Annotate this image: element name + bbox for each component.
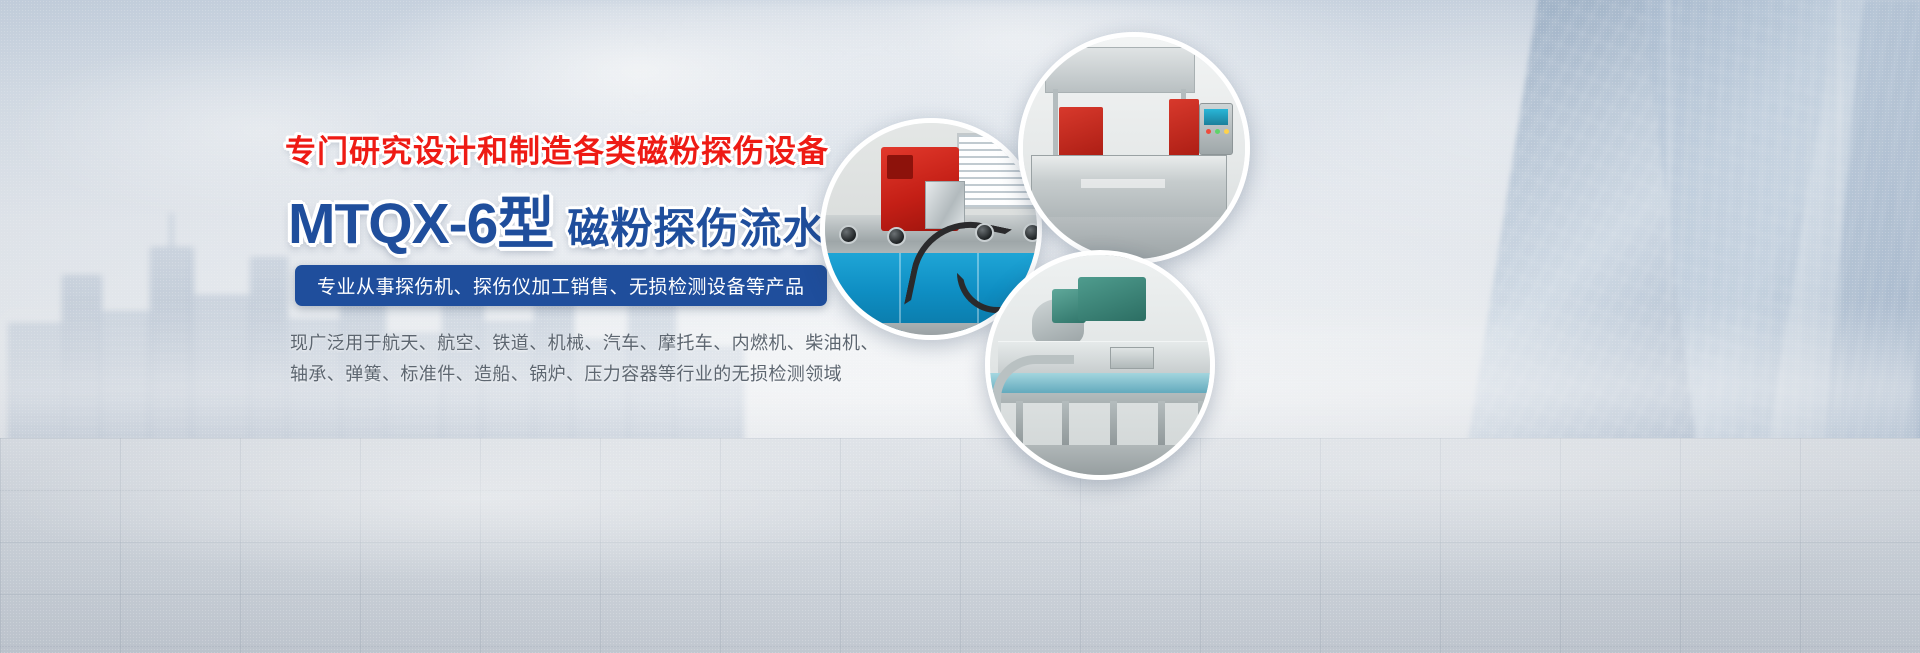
banner-tagline-red: 专门研究设计和制造各类磁粉探伤设备: [285, 126, 829, 171]
banner-description-line-2: 轴承、弹簧、标准件、造船、锅炉、压力容器等行业的无损检测领域: [290, 359, 879, 390]
promo-banner: 专门研究设计和制造各类磁粉探伤设备 MTQX-6型 磁粉探伤流水线 专业从事探伤…: [0, 0, 1920, 653]
photo-conveyor-line-image: [990, 255, 1210, 475]
photo-circle-conveyor-line[interactable]: [985, 250, 1215, 480]
photo-inspection-tank-image: [1023, 37, 1245, 259]
photo-circle-inspection-tank[interactable]: [1018, 32, 1250, 264]
banner-description: 现广泛用于航天、航空、铁道、机械、汽车、摩托车、内燃机、柴油机、 轴承、弹簧、标…: [290, 328, 879, 390]
banner-headline: MTQX-6型 磁粉探伤流水线: [288, 178, 868, 260]
banner-description-line-1: 现广泛用于航天、航空、铁道、机械、汽车、摩托车、内燃机、柴油机、: [290, 328, 879, 359]
banner-service-pill[interactable]: 专业从事探伤机、探伤仪加工销售、无损检测设备等产品: [295, 265, 827, 306]
banner-headline-model: MTQX-6型: [288, 178, 553, 260]
banner-copy-block: 专门研究设计和制造各类磁粉探伤设备 MTQX-6型 磁粉探伤流水线 专业从事探伤…: [0, 0, 860, 653]
